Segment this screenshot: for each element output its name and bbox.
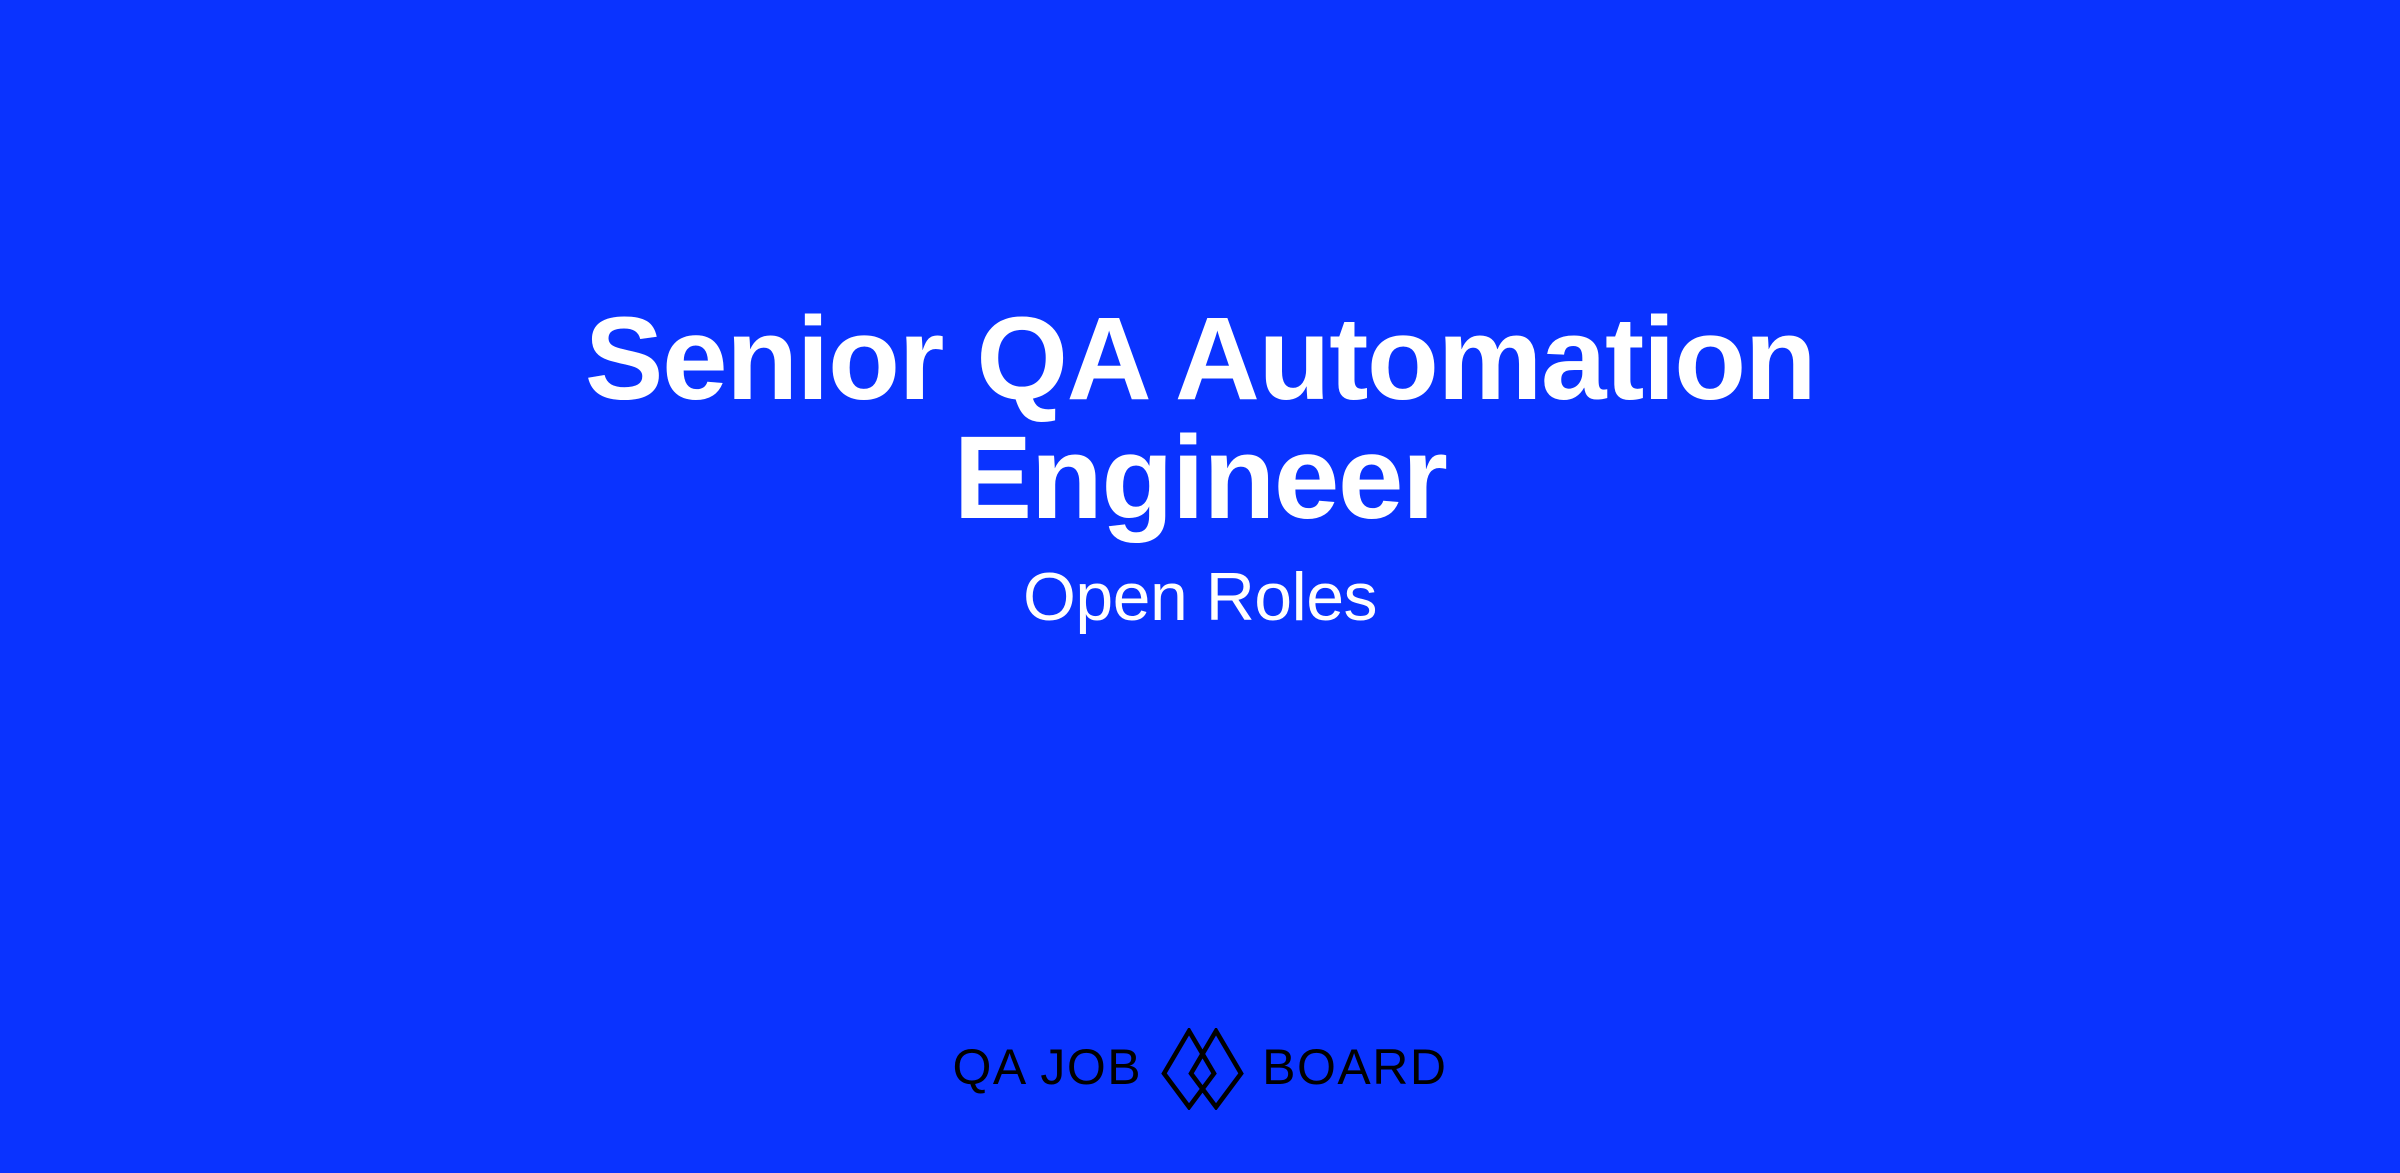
twin-diamond-mark-icon	[1160, 1028, 1244, 1110]
brand-logo[interactable]: QA JOB BOARD	[953, 1028, 1448, 1110]
hero-text-block: Senior QA Automation Engineer Open Roles	[540, 300, 1860, 635]
page-subtitle: Open Roles	[540, 560, 1860, 635]
brand-logo-text-right: BOARD	[1262, 1042, 1447, 1096]
hero-section: Senior QA Automation Engineer Open Roles	[0, 0, 2400, 1173]
page-title: Senior QA Automation Engineer	[540, 300, 1860, 538]
slide-canvas: Senior QA Automation Engineer Open Roles…	[0, 0, 2400, 1173]
brand-logo-text-left: QA JOB	[953, 1042, 1143, 1096]
